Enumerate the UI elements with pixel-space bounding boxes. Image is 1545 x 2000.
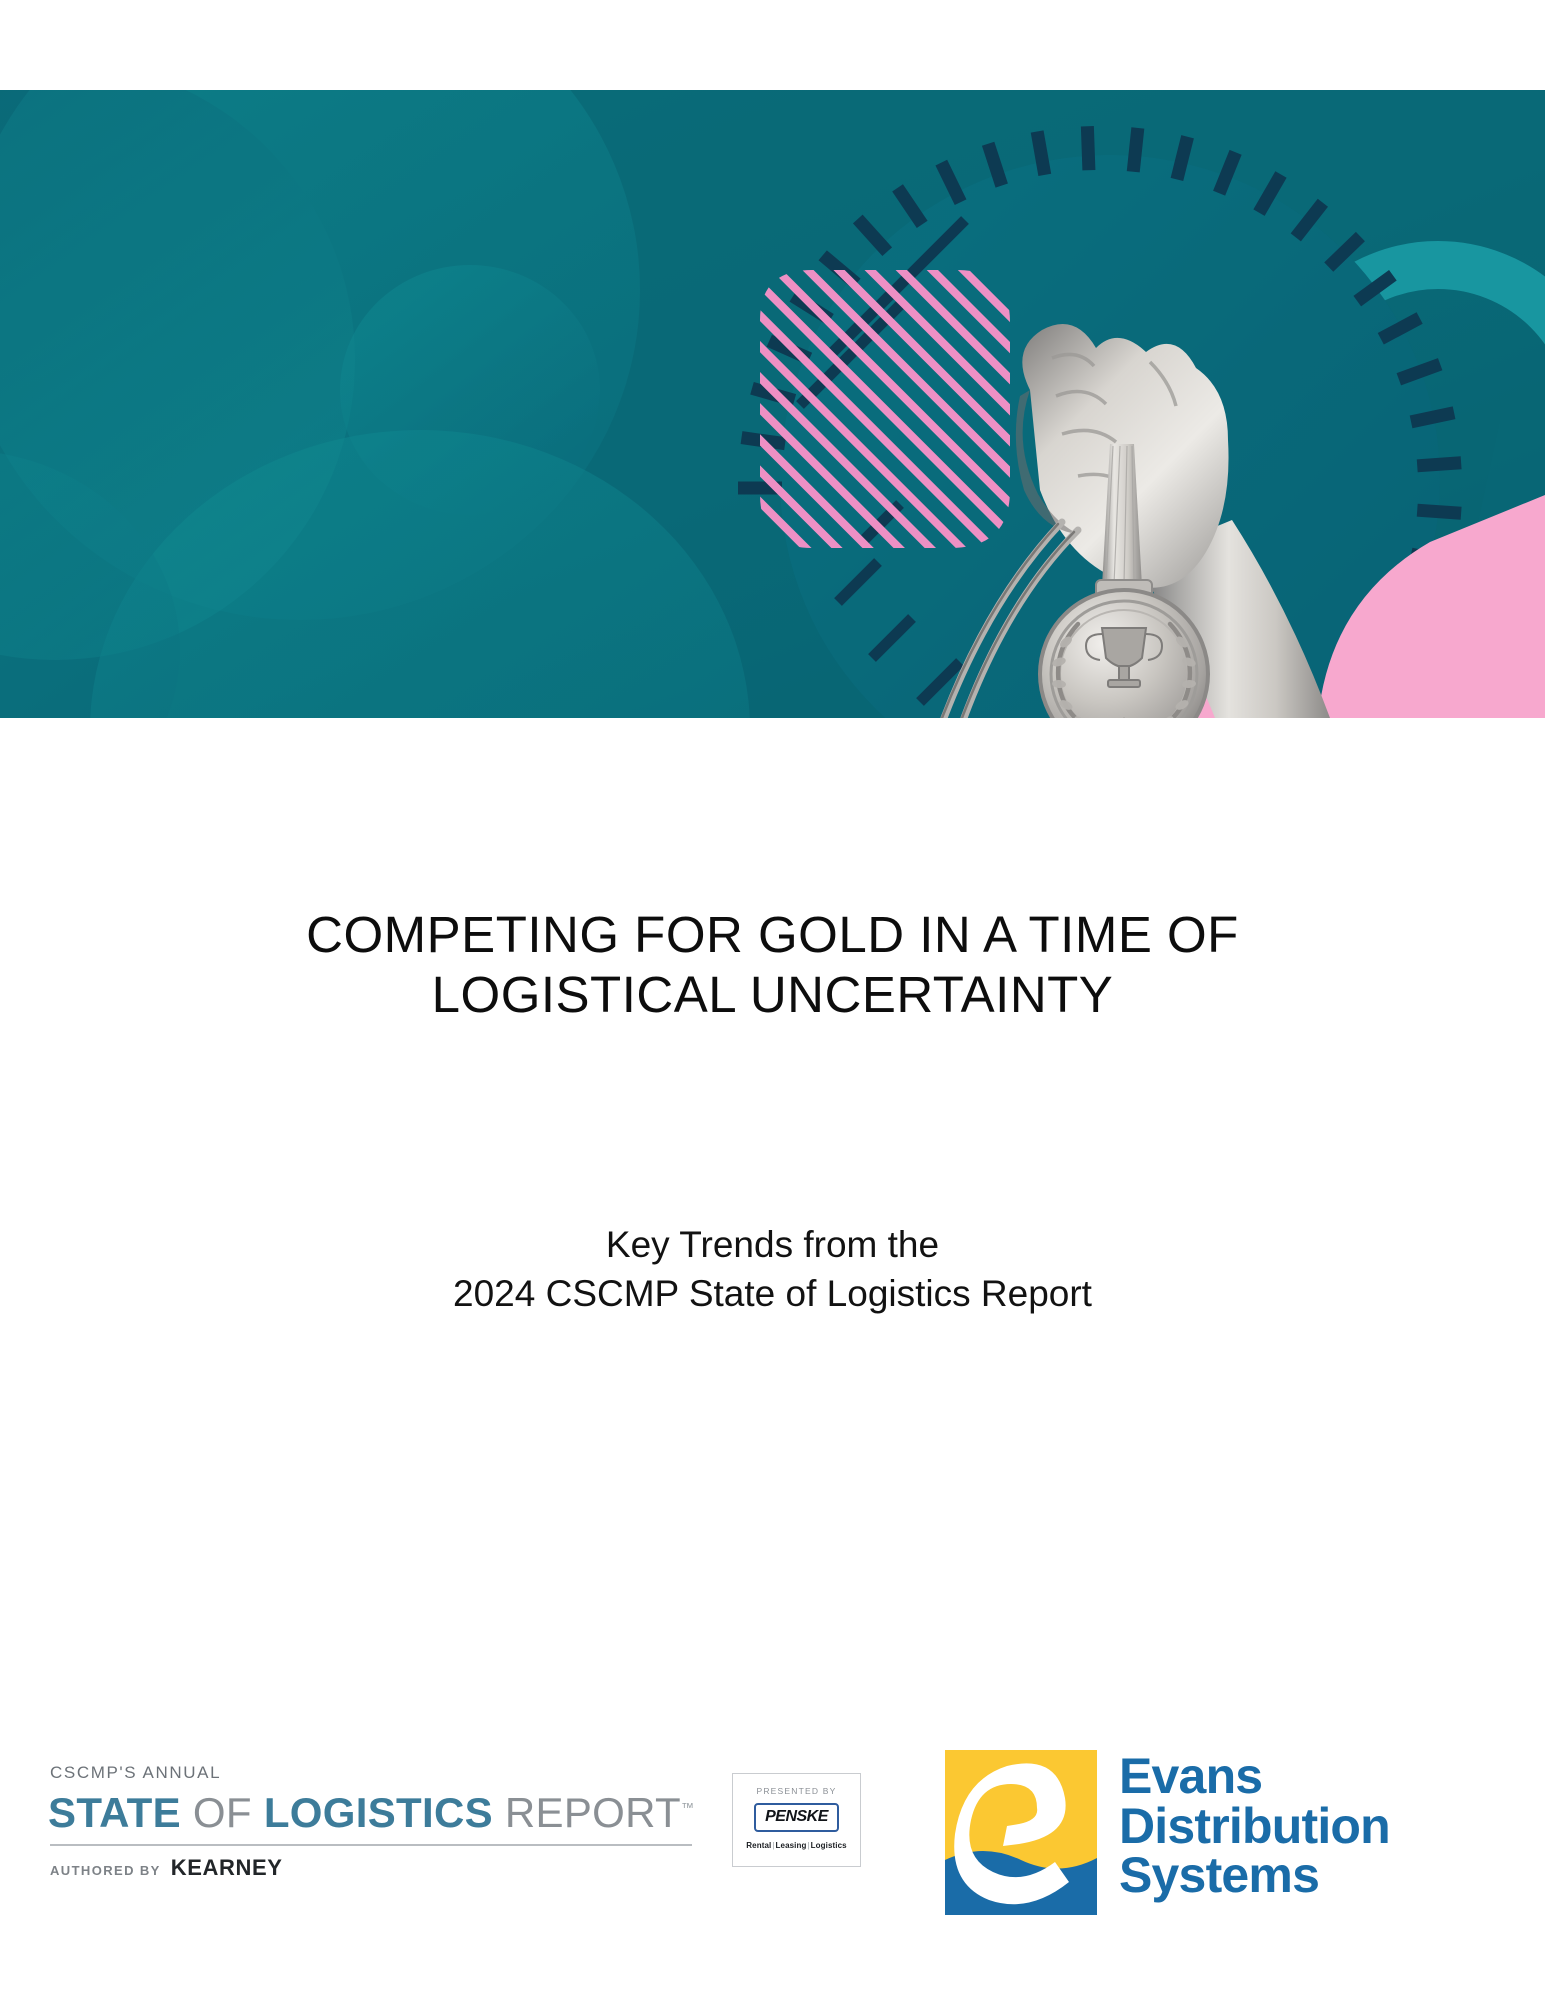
cscmp-divider-rule: [50, 1844, 692, 1846]
trademark-symbol: ™: [681, 1800, 694, 1815]
cscmp-word-of: OF: [193, 1789, 252, 1836]
page-title: COMPETING FOR GOLD IN A TIME OF LOGISTIC…: [0, 905, 1545, 1025]
penske-service-logistics: Logistics: [811, 1841, 847, 1850]
hero-background-graphic: [0, 90, 1545, 718]
evans-line-2: Distribution: [1119, 1802, 1390, 1852]
cscmp-word-report: REPORT: [505, 1789, 681, 1836]
cscmp-report-logo: CSCMP'S ANNUAL STATE OF LOGISTICS REPORT…: [48, 1763, 708, 1881]
penske-services-line: Rental|Leasing|Logistics: [733, 1841, 860, 1850]
evans-e-mark-icon: [945, 1750, 1097, 1915]
presented-by-label: PRESENTED BY: [733, 1786, 860, 1796]
page-subtitle: Key Trends from the 2024 CSCMP State of …: [0, 1220, 1545, 1318]
evans-distribution-systems-logo: Evans Distribution Systems: [945, 1750, 1390, 1915]
cscmp-wordmark: STATE OF LOGISTICS REPORT™: [48, 1789, 708, 1837]
subtitle-line-2: 2024 CSCMP State of Logistics Report: [0, 1269, 1545, 1318]
cscmp-word-state: STATE: [48, 1789, 181, 1836]
penske-wordmark: PENSKE: [765, 1808, 828, 1825]
subtitle-line-1: Key Trends from the: [0, 1220, 1545, 1269]
kearney-wordmark: KEARNEY: [171, 1855, 283, 1880]
footer-logos: CSCMP'S ANNUAL STATE OF LOGISTICS REPORT…: [0, 1735, 1545, 1935]
penske-service-leasing: Leasing: [776, 1841, 807, 1850]
penske-separator-2: |: [807, 1841, 809, 1850]
title-line-2: LOGISTICAL UNCERTAINTY: [0, 965, 1545, 1025]
penske-presented-by-box: PRESENTED BY PENSKE Rental|Leasing|Logis…: [732, 1773, 861, 1867]
penske-service-rental: Rental: [746, 1841, 771, 1850]
evans-wordmark: Evans Distribution Systems: [1119, 1752, 1390, 1901]
evans-line-3: Systems: [1119, 1851, 1390, 1901]
hero-banner: [0, 90, 1545, 718]
penske-separator-1: |: [772, 1841, 774, 1850]
authored-by-label: AUTHORED BY: [50, 1863, 161, 1878]
penske-badge: PENSKE: [754, 1803, 839, 1832]
decor-pink-stripes: [740, 250, 1040, 570]
cscmp-word-logistics: LOGISTICS: [264, 1789, 493, 1836]
cscmp-author-line: AUTHORED BYKEARNEY: [50, 1855, 708, 1881]
evans-line-1: Evans: [1119, 1752, 1390, 1802]
title-line-1: COMPETING FOR GOLD IN A TIME OF: [0, 905, 1545, 965]
cscmp-kicker: CSCMP'S ANNUAL: [50, 1763, 708, 1783]
